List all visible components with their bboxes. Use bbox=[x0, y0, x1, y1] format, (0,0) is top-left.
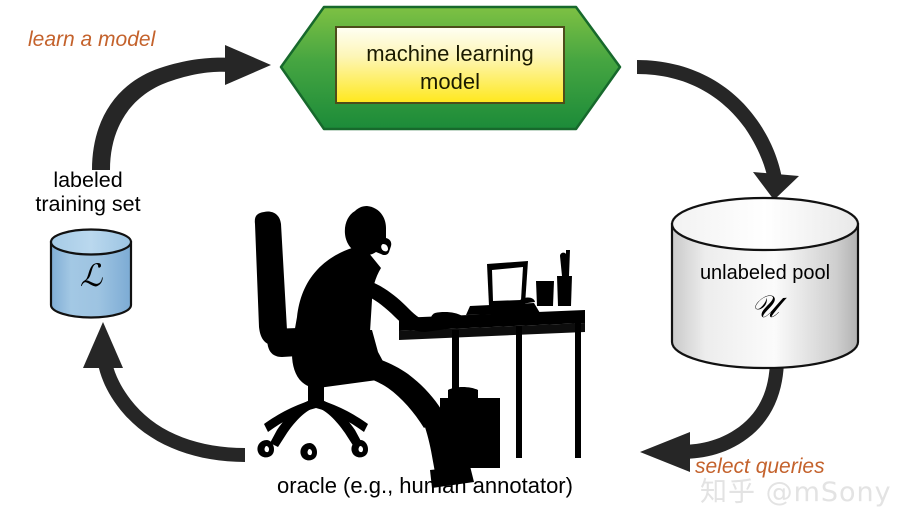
model-to-pool-arrow bbox=[637, 60, 799, 200]
unlabeled-pool-label: unlabeled pool bbox=[672, 262, 858, 284]
labeled-training-set-label: labeled training set bbox=[18, 168, 158, 216]
oracle-to-labeled-arrow bbox=[83, 322, 245, 462]
oracle-silhouette bbox=[255, 206, 585, 488]
machine-learning-model-label: machine learning model bbox=[335, 40, 565, 96]
learn-a-model-label: learn a model bbox=[28, 28, 155, 52]
oracle-caption: oracle (e.g., human annotator) bbox=[225, 474, 625, 499]
select-queries-label: select queries bbox=[695, 455, 825, 479]
diagram-canvas: learn a model select queries labeled tra… bbox=[0, 0, 898, 521]
labeled-set-symbol: ℒ bbox=[48, 258, 134, 294]
learn-a-model-arrow bbox=[92, 45, 271, 170]
unlabeled-pool-symbol: 𝒰 bbox=[700, 289, 830, 326]
